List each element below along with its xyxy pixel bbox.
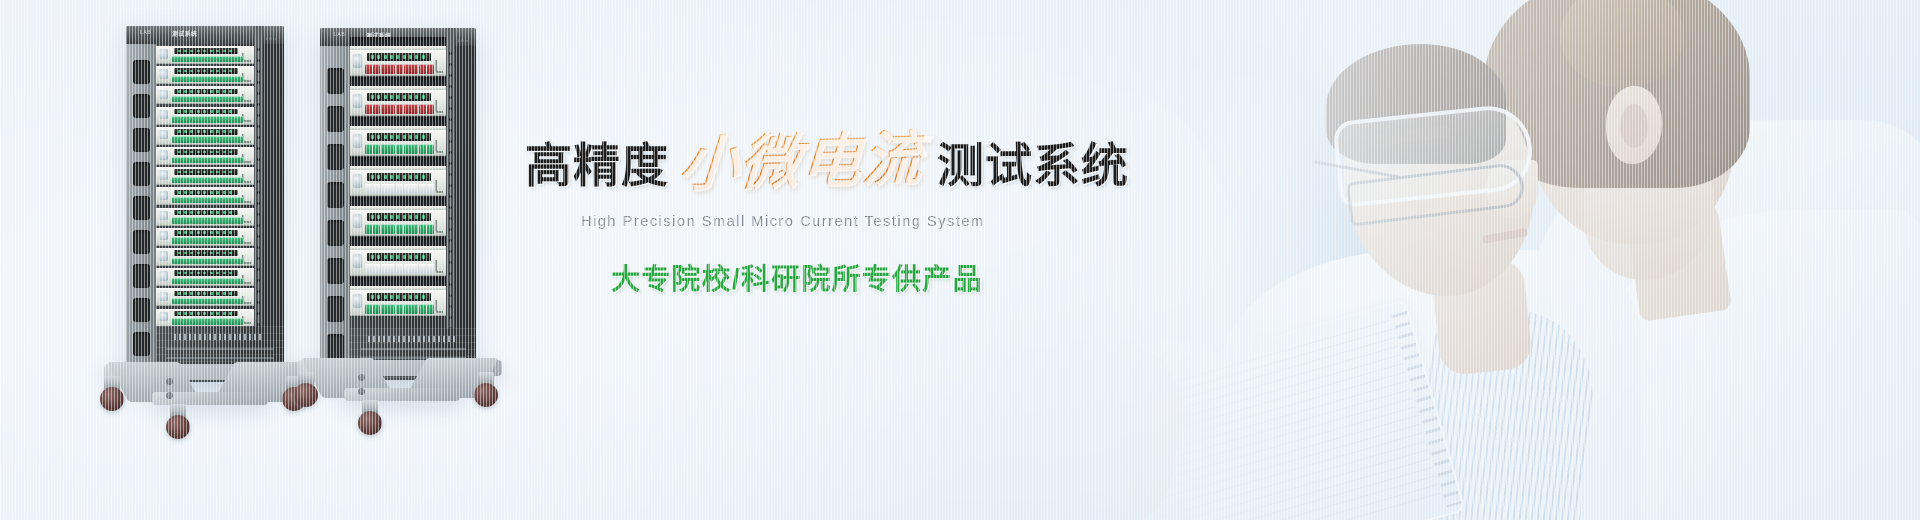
instrument-terminal (427, 104, 434, 114)
instrument-terminal (419, 184, 426, 194)
rack-post-slot (133, 298, 150, 322)
instrument-terminal (373, 64, 380, 74)
instrument-terminal (411, 104, 418, 114)
instrument-terminal (427, 304, 434, 314)
instrument-terminal (411, 224, 418, 234)
instrument-terminal (381, 104, 388, 114)
rack-post-slot (133, 264, 150, 288)
instrument-terminal (365, 104, 372, 114)
instrument-terminal (396, 304, 403, 314)
rack-left-post (320, 28, 350, 380)
instrument-terminal (236, 76, 243, 82)
instrument-terminal (236, 237, 243, 243)
headline-emphasis: 小微电流 (677, 129, 925, 195)
instrument-terminal (427, 184, 434, 194)
instrument-unit (156, 228, 254, 246)
rack-mobile-base-2 (298, 348, 502, 426)
instrument-terminal (365, 184, 372, 194)
instrument-terminal (373, 264, 380, 274)
instrument-terminal (419, 64, 426, 74)
instrument-terminal (404, 304, 411, 314)
rack-post-slot (327, 182, 344, 208)
instrument-terminal (427, 224, 434, 234)
instrument-terminal (419, 304, 426, 314)
instrument-terminal (236, 298, 243, 304)
instrument-rack-dense: LAB 测试系统 1 1 0 n (126, 26, 284, 382)
instrument-terminal (373, 224, 380, 234)
instrument-terminal (388, 264, 395, 274)
instrument-terminal (381, 184, 388, 194)
instrument-terminal (388, 104, 395, 114)
rack-logo: LAB (140, 30, 151, 36)
instrument-terminal (404, 104, 411, 114)
instrument-terminal (236, 197, 243, 203)
instrument-unit (156, 288, 254, 306)
instrument-terminal (404, 264, 411, 274)
instrument-terminal (396, 64, 403, 74)
instrument-unit (156, 86, 254, 104)
rack-mobile-base-1 (104, 352, 310, 430)
rack-post-slot (133, 94, 150, 118)
instrument-terminal (388, 304, 395, 314)
instrument-terminal (381, 144, 388, 154)
instrument-terminal (396, 104, 403, 114)
instrument-terminal (236, 136, 243, 142)
instrument-terminal (381, 264, 388, 274)
instrument-unit (156, 127, 254, 145)
instrument-terminal (396, 224, 403, 234)
instrument-unit (350, 210, 446, 236)
instrument-terminal (404, 64, 411, 74)
instrument-terminal (427, 144, 434, 154)
instrument-terminal (419, 264, 426, 274)
instrument-terminal (236, 258, 243, 264)
instrument-unit (156, 147, 254, 165)
rack-brand-label: 测试系统 (172, 29, 197, 38)
headline-tail: 测试系统 (937, 142, 1129, 189)
instrument-terminal (427, 264, 434, 274)
instrument-terminal (411, 184, 418, 194)
rack-model-label: 1 1 0 n (453, 38, 468, 43)
instrument-terminal (365, 224, 372, 234)
instrument-terminal (373, 104, 380, 114)
instrument-unit (156, 248, 254, 266)
instrument-unit (156, 268, 254, 286)
instrument-terminal (381, 224, 388, 234)
rack-post-slot (327, 68, 344, 94)
instrument-terminal (404, 144, 411, 154)
instrument-terminal (404, 184, 411, 194)
instrument-terminal (365, 144, 372, 154)
instrument-terminal (236, 217, 243, 223)
instrument-terminal (411, 264, 418, 274)
instrument-terminal (365, 304, 372, 314)
instrument-terminal (381, 304, 388, 314)
instrument-terminal (373, 184, 380, 194)
instrument-unit (156, 187, 254, 205)
instrument-terminal (411, 144, 418, 154)
rack-post-slot (327, 144, 344, 170)
instrument-unit (350, 250, 446, 276)
instrument-unit (156, 46, 254, 64)
instrument-terminal (236, 318, 243, 324)
rack-logo: LAB (334, 32, 345, 38)
instrument-terminal (365, 264, 372, 274)
instrument-terminal (236, 96, 243, 102)
instrument-terminal (373, 304, 380, 314)
instrument-terminal (236, 116, 243, 122)
rack-post-slot (133, 60, 150, 84)
subtitle-chinese: 大专院校/科研院所专供产品 (525, 256, 1045, 298)
instrument-unit (156, 208, 254, 226)
banner-copy: 高精度 小微电流 测试系统 High Precision Small Micro… (525, 132, 1045, 298)
instrument-terminal (365, 64, 372, 74)
promo-banner: LAB 测试系统 1 1 0 n LAB 测试系统 1 1 0 n (0, 0, 1920, 520)
instrument-terminal (427, 64, 434, 74)
rack-post-slot (133, 162, 150, 186)
lab-researchers-photo (1040, 0, 1920, 520)
instrument-unit (350, 130, 446, 156)
instrument-terminal (373, 144, 380, 154)
instrument-terminal (236, 157, 243, 163)
instrument-terminal (396, 144, 403, 154)
rack-post-slot (133, 196, 150, 220)
instrument-terminal (236, 56, 243, 62)
instrument-terminal (411, 64, 418, 74)
instrument-terminal (388, 144, 395, 154)
rack-post-slot (133, 128, 150, 152)
rack-post-slot (327, 296, 344, 322)
instrument-unit (350, 90, 446, 116)
instrument-terminal (388, 184, 395, 194)
instrument-unit (156, 309, 254, 327)
instrument-unit (350, 170, 446, 196)
instrument-terminal (419, 144, 426, 154)
rack-model-label: 1 1 0 n (261, 36, 276, 41)
instrument-rack-sparse: LAB 测试系统 1 1 0 n (320, 28, 476, 380)
rack-left-post (126, 26, 156, 382)
instrument-terminal (404, 224, 411, 234)
instrument-terminal (388, 224, 395, 234)
rack-post-slot (327, 258, 344, 284)
subtitle-english: High Precision Small Micro Current Testi… (525, 214, 1045, 230)
headline-lead: 高精度 (525, 142, 669, 189)
instrument-terminal (419, 224, 426, 234)
instrument-terminal (236, 278, 243, 284)
instrument-unit (156, 167, 254, 185)
instrument-unit (156, 107, 254, 125)
rack-post-slot (327, 220, 344, 246)
rack-post-slot (133, 230, 150, 254)
rack-post-slot (327, 106, 344, 132)
instrument-unit (156, 66, 254, 84)
instrument-terminal (236, 177, 243, 183)
instrument-terminal (388, 64, 395, 74)
instrument-terminal (381, 64, 388, 74)
page-title: 高精度 小微电流 测试系统 (525, 132, 1045, 192)
instrument-terminal (396, 184, 403, 194)
instrument-terminal (411, 304, 418, 314)
instrument-unit (350, 290, 446, 316)
instrument-unit (350, 50, 446, 76)
instrument-terminal (396, 264, 403, 274)
instrument-terminal (419, 104, 426, 114)
